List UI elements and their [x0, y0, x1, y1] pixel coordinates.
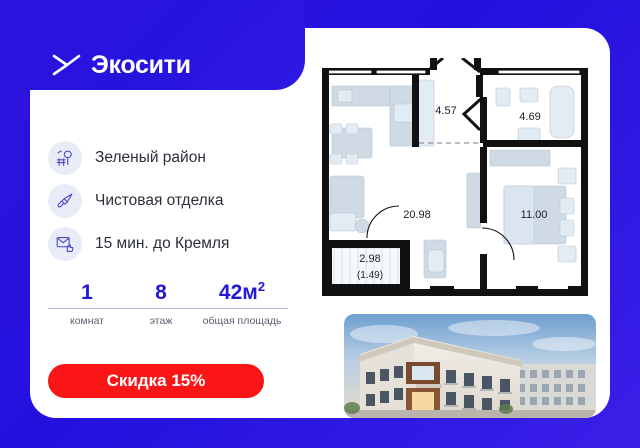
feature-label: Зеленый район — [95, 149, 206, 167]
stat-area-label: общая площадь — [196, 315, 288, 328]
room-area-bathroom: 4.69 — [519, 111, 540, 123]
brand-logo[interactable]: Экосити — [52, 52, 191, 78]
feature-item-distance-to-kremlin: 15 мин. до Кремля — [48, 222, 300, 265]
stat-floor-value: 8 — [126, 282, 196, 303]
stat-floor-label: этаж — [126, 315, 196, 328]
room-area-balcony-reduced: (1.49) — [357, 270, 383, 281]
stat-rooms-label: комнат — [48, 315, 126, 328]
stat-area-unit-sup: 2 — [258, 279, 265, 294]
stat-rooms-value: 1 — [48, 282, 126, 303]
property-stats: 1 8 42м2 комнат этаж общая площадь — [48, 280, 288, 328]
stat-area-number: 42 — [219, 281, 242, 304]
x-mark-logo-icon — [52, 52, 82, 78]
map-thumbs-up-icon — [48, 227, 82, 261]
park-tree-bench-icon — [48, 141, 82, 175]
brand-name: Экосити — [91, 53, 191, 78]
feature-item-finished-renovation: Чистовая отделка — [48, 179, 300, 222]
building-photo[interactable] — [344, 314, 596, 418]
discount-button[interactable]: Скидка 15% — [48, 364, 264, 398]
stat-area-unit: м — [242, 281, 258, 304]
feature-label: Чистовая отделка — [95, 192, 223, 210]
listing-card-root: Экосити Зеленый район Ч — [0, 0, 640, 448]
feature-label: 15 мин. до Кремля — [95, 235, 229, 253]
room-area-balcony: 2.98 — [359, 253, 380, 265]
room-area-bedroom: 11.00 — [521, 209, 548, 221]
room-area-living: 20.98 — [403, 209, 431, 221]
feature-item-green-district: Зеленый район — [48, 136, 300, 179]
stat-area-value: 42м2 — [196, 280, 288, 303]
features-list: Зеленый район Чистовая отделка 15 ми — [48, 136, 300, 265]
room-area-hallway: 4.57 — [435, 105, 456, 117]
floor-plan[interactable]: 4.57 4.69 20.98 11.00 2.98 (1.49) — [312, 58, 598, 308]
trowel-icon — [48, 184, 82, 218]
